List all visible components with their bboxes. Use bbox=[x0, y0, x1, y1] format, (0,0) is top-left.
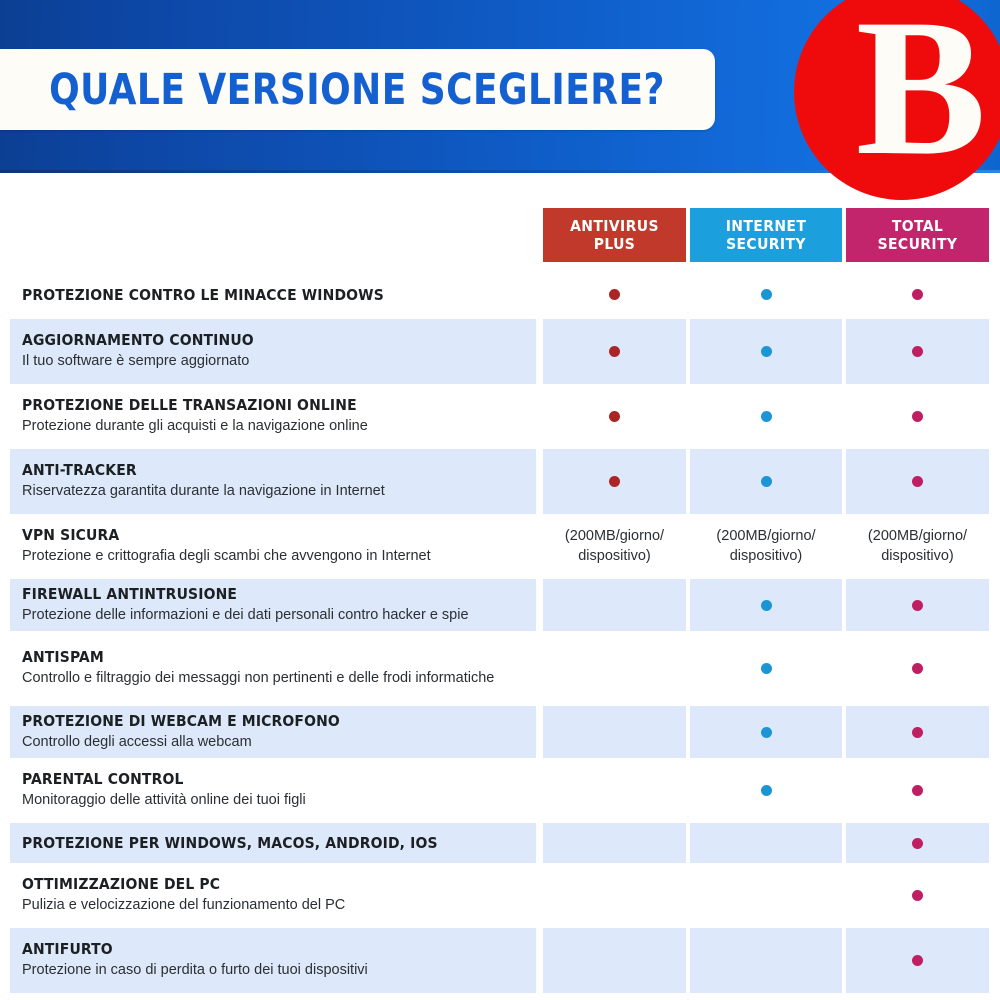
included-dot-icon bbox=[609, 411, 620, 422]
table-cell-col-2 bbox=[690, 384, 842, 449]
feature-title: AGGIORNAMENTO CONTINUO bbox=[22, 331, 254, 349]
table-cell-col-2 bbox=[690, 706, 842, 758]
feature-label: PROTEZIONE PER WINDOWS, MACOS, ANDROID, … bbox=[22, 823, 438, 863]
table-cell-col-1 bbox=[543, 823, 686, 863]
table-cell-col-2 bbox=[690, 319, 842, 384]
column-header-3[interactable]: TOTALSECURITY bbox=[846, 208, 989, 262]
table-cell-col-1 bbox=[543, 758, 686, 823]
column-header-label-line2: SECURITY bbox=[726, 235, 806, 253]
feature-label: PARENTAL CONTROLMonitoraggio delle attiv… bbox=[22, 758, 306, 823]
table-row: ANTI-TRACKERRiservatezza garantita duran… bbox=[0, 449, 1000, 514]
feature-subtitle: Protezione e crittografia degli scambi c… bbox=[22, 547, 431, 566]
feature-subtitle: Pulizia e velocizzazione del funzionamen… bbox=[22, 896, 345, 915]
feature-title: FIREWALL ANTINTRUSIONE bbox=[22, 585, 469, 603]
column-header-label-line1: INTERNET bbox=[726, 217, 807, 235]
table-cell-col-2 bbox=[690, 758, 842, 823]
table-cell-col-3 bbox=[846, 319, 989, 384]
table-cell-col-1: (200MB/giorno/ dispositivo) bbox=[543, 514, 686, 579]
column-header-label-line1: TOTAL bbox=[892, 217, 943, 235]
feature-label: ANTISPAMControllo e filtraggio dei messa… bbox=[22, 631, 494, 706]
column-header-2[interactable]: INTERNETSECURITY bbox=[690, 208, 842, 262]
included-dot-icon bbox=[761, 476, 772, 487]
table-row: FIREWALL ANTINTRUSIONEProtezione delle i… bbox=[0, 579, 1000, 631]
included-dot-icon bbox=[609, 289, 620, 300]
table-cell-col-1 bbox=[543, 579, 686, 631]
feature-label: ANTI-TRACKERRiservatezza garantita duran… bbox=[22, 449, 385, 514]
included-dot-icon bbox=[912, 663, 923, 674]
feature-title: PARENTAL CONTROL bbox=[22, 770, 306, 788]
feature-label: PROTEZIONE DI WEBCAM E MICROFONOControll… bbox=[22, 706, 340, 758]
table-row: PROTEZIONE DI WEBCAM E MICROFONOControll… bbox=[0, 706, 1000, 758]
cell-value: (200MB/giorno/ dispositivo) bbox=[716, 527, 815, 565]
feature-subtitle: Controllo degli accessi alla webcam bbox=[22, 733, 340, 752]
included-dot-icon bbox=[609, 346, 620, 357]
table-cell-col-3 bbox=[846, 384, 989, 449]
table-cell-col-3 bbox=[846, 270, 989, 319]
table-row: PARENTAL CONTROLMonitoraggio delle attiv… bbox=[0, 758, 1000, 823]
feature-label: AGGIORNAMENTO CONTINUOIl tuo software è … bbox=[22, 319, 254, 384]
table-cell-col-2 bbox=[690, 863, 842, 928]
cell-value: (200MB/giorno/ dispositivo) bbox=[565, 527, 664, 565]
table-cell-col-2 bbox=[690, 449, 842, 514]
included-dot-icon bbox=[912, 838, 923, 849]
title-pill: QUALE VERSIONE SCEGLIERE? bbox=[0, 49, 715, 130]
feature-subtitle: Protezione durante gli acquisti e la nav… bbox=[22, 417, 368, 436]
table-cell-col-3 bbox=[846, 863, 989, 928]
feature-subtitle: Il tuo software è sempre aggiornato bbox=[22, 352, 254, 371]
table-cell-col-3 bbox=[846, 706, 989, 758]
feature-subtitle: Protezione delle informazioni e dei dati… bbox=[22, 606, 469, 625]
table-cell-col-3 bbox=[846, 928, 989, 993]
included-dot-icon bbox=[912, 289, 923, 300]
table-row: AGGIORNAMENTO CONTINUOIl tuo software è … bbox=[0, 319, 1000, 384]
column-header-label-line1: ANTIVIRUS bbox=[570, 217, 659, 235]
included-dot-icon bbox=[912, 476, 923, 487]
feature-subtitle: Controllo e filtraggio dei messaggi non … bbox=[22, 669, 494, 688]
table-row: VPN SICURAProtezione e crittografia degl… bbox=[0, 514, 1000, 579]
feature-title: PROTEZIONE CONTRO LE MINACCE WINDOWS bbox=[22, 286, 384, 304]
feature-title: OTTIMIZZAZIONE DEL PC bbox=[22, 875, 345, 893]
table-cell-col-3 bbox=[846, 823, 989, 863]
included-dot-icon bbox=[761, 663, 772, 674]
included-dot-icon bbox=[912, 727, 923, 738]
table-cell-col-1 bbox=[543, 449, 686, 514]
table-cell-col-1 bbox=[543, 706, 686, 758]
comparison-table: ANTIVIRUSPLUSINTERNETSECURITYTOTALSECURI… bbox=[0, 173, 1000, 1000]
bitdefender-logo: B bbox=[794, 0, 1000, 200]
table-row: ANTISPAMControllo e filtraggio dei messa… bbox=[0, 631, 1000, 706]
table-cell-col-3 bbox=[846, 758, 989, 823]
column-header-label-line2: PLUS bbox=[594, 235, 636, 253]
included-dot-icon bbox=[761, 785, 772, 796]
included-dot-icon bbox=[912, 955, 923, 966]
included-dot-icon bbox=[912, 346, 923, 357]
column-header-label-line2: SECURITY bbox=[878, 235, 958, 253]
feature-subtitle: Monitoraggio delle attività online dei t… bbox=[22, 791, 306, 810]
table-cell-col-3: (200MB/giorno/ dispositivo) bbox=[846, 514, 989, 579]
table-row: PROTEZIONE CONTRO LE MINACCE WINDOWS bbox=[0, 270, 1000, 319]
feature-title: PROTEZIONE DI WEBCAM E MICROFONO bbox=[22, 712, 340, 730]
feature-label: OTTIMIZZAZIONE DEL PCPulizia e velocizza… bbox=[22, 863, 345, 928]
table-row: ANTIFURTOProtezione in caso di perdita o… bbox=[0, 928, 1000, 993]
feature-title: VPN SICURA bbox=[22, 526, 431, 544]
feature-title: PROTEZIONE PER WINDOWS, MACOS, ANDROID, … bbox=[22, 834, 438, 852]
feature-title: ANTI-TRACKER bbox=[22, 461, 385, 479]
table-cell-col-1 bbox=[543, 631, 686, 706]
feature-label: FIREWALL ANTINTRUSIONEProtezione delle i… bbox=[22, 579, 469, 631]
feature-label: PROTEZIONE DELLE TRANSAZIONI ONLINEProte… bbox=[22, 384, 368, 449]
feature-label: PROTEZIONE CONTRO LE MINACCE WINDOWS bbox=[22, 270, 384, 319]
table-row: PROTEZIONE DELLE TRANSAZIONI ONLINEProte… bbox=[0, 384, 1000, 449]
table-cell-col-1 bbox=[543, 384, 686, 449]
feature-title: ANTISPAM bbox=[22, 648, 494, 666]
included-dot-icon bbox=[912, 411, 923, 422]
included-dot-icon bbox=[609, 476, 620, 487]
included-dot-icon bbox=[761, 727, 772, 738]
table-cell-col-2 bbox=[690, 270, 842, 319]
table-cell-col-3 bbox=[846, 449, 989, 514]
included-dot-icon bbox=[761, 289, 772, 300]
included-dot-icon bbox=[912, 785, 923, 796]
feature-title: ANTIFURTO bbox=[22, 940, 368, 958]
column-header-row: ANTIVIRUSPLUSINTERNETSECURITYTOTALSECURI… bbox=[0, 208, 1000, 262]
page-title: QUALE VERSIONE SCEGLIERE? bbox=[12, 49, 690, 130]
included-dot-icon bbox=[761, 411, 772, 422]
table-cell-col-2 bbox=[690, 823, 842, 863]
table-row: OTTIMIZZAZIONE DEL PCPulizia e velocizza… bbox=[0, 863, 1000, 928]
included-dot-icon bbox=[912, 600, 923, 611]
table-cell-col-2 bbox=[690, 579, 842, 631]
feature-title: PROTEZIONE DELLE TRANSAZIONI ONLINE bbox=[22, 396, 368, 414]
table-cell-col-1 bbox=[543, 270, 686, 319]
feature-label: ANTIFURTOProtezione in caso di perdita o… bbox=[22, 928, 368, 993]
feature-label: VPN SICURAProtezione e crittografia degl… bbox=[22, 514, 431, 579]
included-dot-icon bbox=[761, 600, 772, 611]
table-cell-col-1 bbox=[543, 928, 686, 993]
table-cell-col-2 bbox=[690, 928, 842, 993]
logo-letter: B bbox=[794, 0, 1000, 200]
table-cell-col-3 bbox=[846, 631, 989, 706]
table-cell-col-3 bbox=[846, 579, 989, 631]
table-cell-col-2 bbox=[690, 631, 842, 706]
feature-subtitle: Protezione in caso di perdita o furto de… bbox=[22, 961, 368, 980]
included-dot-icon bbox=[761, 346, 772, 357]
table-cell-col-2: (200MB/giorno/ dispositivo) bbox=[690, 514, 842, 579]
cell-value: (200MB/giorno/ dispositivo) bbox=[868, 527, 967, 565]
table-row: PROTEZIONE PER WINDOWS, MACOS, ANDROID, … bbox=[0, 823, 1000, 863]
table-cell-col-1 bbox=[543, 319, 686, 384]
feature-subtitle: Riservatezza garantita durante la naviga… bbox=[22, 482, 385, 501]
column-header-1[interactable]: ANTIVIRUSPLUS bbox=[543, 208, 686, 262]
table-cell-col-1 bbox=[543, 863, 686, 928]
included-dot-icon bbox=[912, 890, 923, 901]
